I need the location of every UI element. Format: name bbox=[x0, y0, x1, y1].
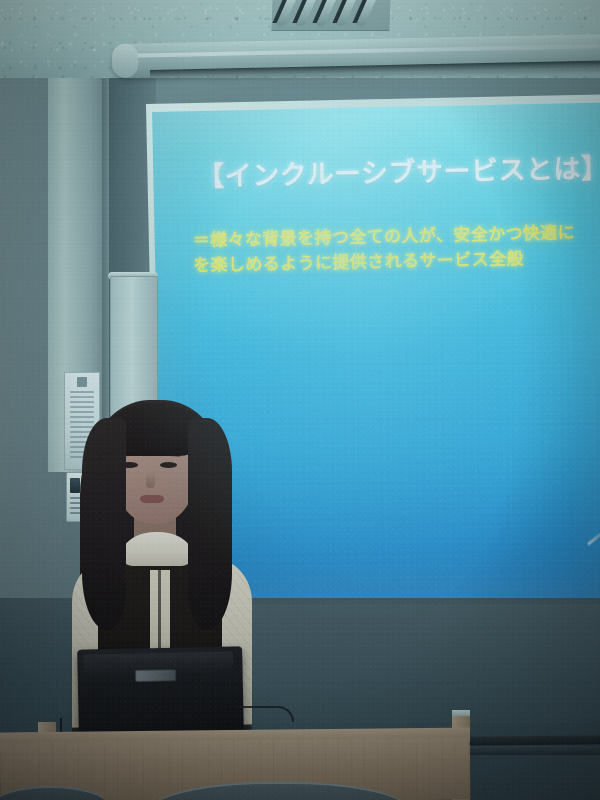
presenter-hair-side-right bbox=[188, 418, 232, 630]
laptop-brand-logo bbox=[136, 670, 176, 682]
lecture-room-photo: 【インクルーシブサービスとは】 ＝様々な背景を持つ全ての人が、安全かつ快適に を… bbox=[0, 0, 600, 800]
presenter-mouth bbox=[140, 495, 164, 503]
secondary-cable bbox=[236, 706, 294, 722]
presenter-eye-right bbox=[160, 462, 177, 468]
presenter-nose bbox=[146, 472, 155, 488]
valance-end-cap bbox=[112, 43, 139, 78]
slide-body: ＝様々な背景を持つ全ての人が、安全かつ快適に を楽しめるように提供されるサービス… bbox=[192, 219, 600, 279]
slide-title: 【インクルーシブサービスとは】 bbox=[197, 147, 588, 194]
desk-rail-right-lower bbox=[468, 748, 600, 755]
valance-highlight bbox=[120, 44, 600, 58]
presenter-hair-side-left bbox=[82, 418, 126, 630]
ceiling-air-vent-icon bbox=[271, 0, 390, 31]
notice-header-mark bbox=[77, 377, 87, 387]
desk-leg-cap bbox=[452, 710, 470, 716]
desk-rail-right bbox=[468, 735, 600, 745]
